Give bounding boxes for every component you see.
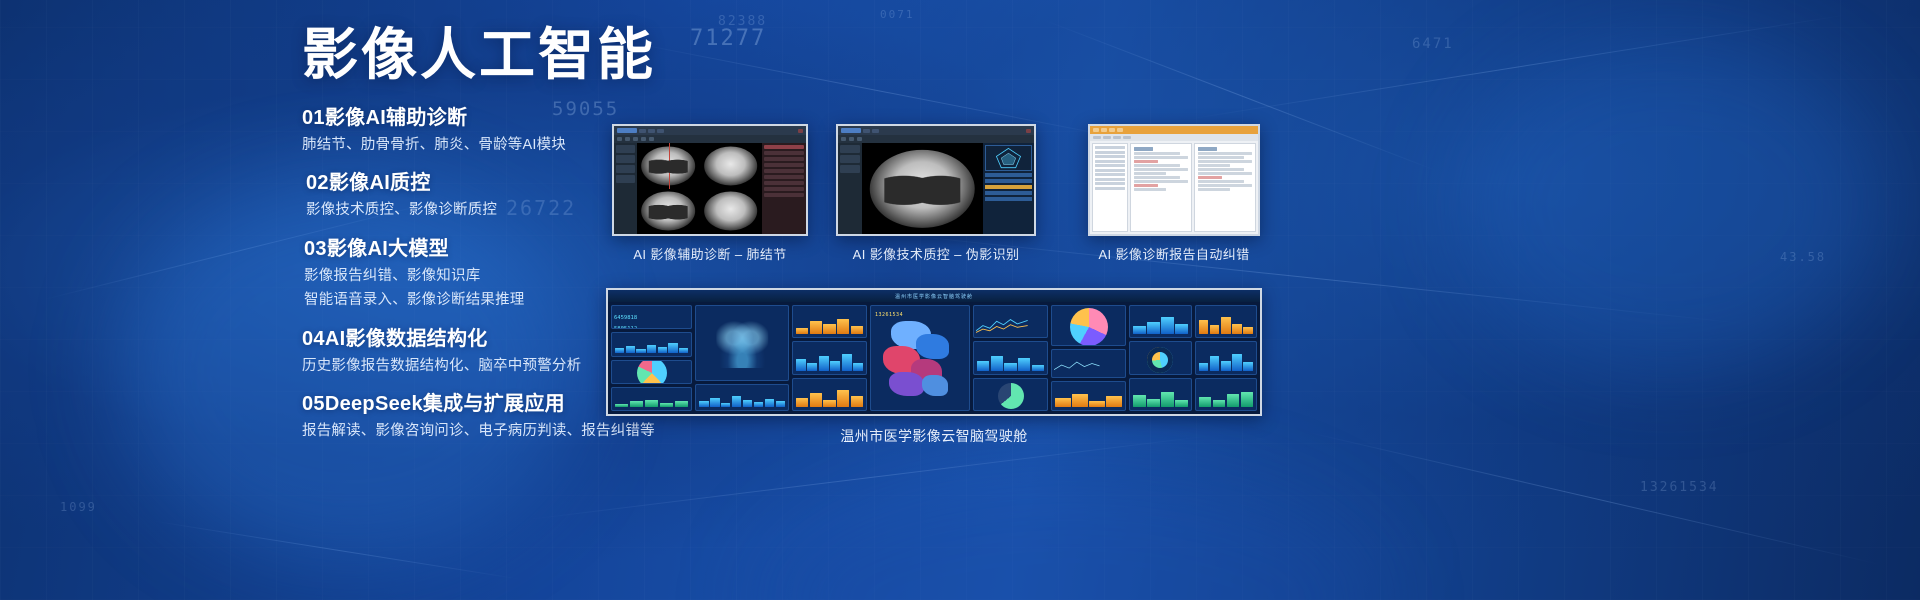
panel-bar-chart[interactable] bbox=[1129, 378, 1192, 411]
worklist-row[interactable] bbox=[1095, 173, 1125, 176]
worklist-row[interactable] bbox=[1095, 155, 1125, 158]
bar-series bbox=[1199, 388, 1254, 407]
worklist-row[interactable] bbox=[1095, 146, 1125, 149]
report-line bbox=[1198, 180, 1244, 183]
bar-series bbox=[1133, 388, 1188, 407]
toolbar-icon[interactable] bbox=[641, 137, 646, 141]
report-line bbox=[1134, 152, 1180, 155]
toolbar-icon[interactable] bbox=[649, 137, 654, 141]
bar-series bbox=[977, 351, 1044, 370]
app-screenshot[interactable] bbox=[836, 124, 1036, 236]
panel-title bbox=[614, 307, 615, 312]
panel-bar-chart[interactable] bbox=[1195, 341, 1258, 374]
panel-bar-chart[interactable] bbox=[1195, 305, 1258, 338]
report-line bbox=[1198, 164, 1230, 167]
kpi-value: 5805112 bbox=[614, 326, 637, 329]
worklist-row[interactable] bbox=[1095, 187, 1125, 190]
panel-line-chart[interactable] bbox=[973, 305, 1048, 338]
bar-series bbox=[615, 397, 688, 407]
dashboard-column-2 bbox=[695, 305, 789, 411]
pie-chart bbox=[1070, 308, 1108, 345]
dashboard-screenshot[interactable]: 温州市医学影像云智脑驾驶舱 6459818 5805112 bbox=[606, 288, 1262, 416]
dashboard-column-5 bbox=[973, 305, 1048, 411]
panel-donut-chart[interactable] bbox=[1129, 341, 1192, 374]
report-error-highlight bbox=[1134, 184, 1158, 187]
dashboard-column-3 bbox=[792, 305, 867, 411]
report-line bbox=[1134, 188, 1166, 191]
toolbar-icon[interactable] bbox=[857, 137, 862, 141]
feature-subtitle: 影像报告纠错、影像知识库 bbox=[304, 265, 702, 287]
ct-slice-coronal[interactable] bbox=[699, 143, 761, 189]
bar-series bbox=[796, 388, 863, 407]
toolbar-icon[interactable] bbox=[617, 137, 622, 141]
image-viewport[interactable] bbox=[637, 143, 762, 234]
screenshot-caption: AI 影像辅助诊断 – 肺结节 bbox=[612, 244, 808, 263]
qc-row[interactable] bbox=[985, 179, 1032, 183]
report-error-highlight bbox=[1134, 160, 1158, 163]
worklist-row[interactable] bbox=[1095, 151, 1125, 154]
tab-chip[interactable] bbox=[648, 129, 655, 133]
human-body-hologram bbox=[716, 316, 767, 368]
thumbnail-strip[interactable] bbox=[614, 143, 637, 234]
qc-row[interactable] bbox=[985, 191, 1032, 195]
ct-slice-axial[interactable] bbox=[637, 143, 699, 189]
toolbar-icon[interactable] bbox=[633, 137, 638, 141]
close-icon[interactable] bbox=[798, 129, 803, 133]
dashboard-column-8 bbox=[1195, 305, 1258, 411]
bar-series bbox=[796, 351, 863, 370]
background-number: 1099 bbox=[60, 500, 97, 514]
bar-series bbox=[1133, 315, 1188, 334]
report-heading bbox=[1134, 147, 1153, 151]
background-number: 0071 bbox=[880, 8, 915, 21]
panel-stat-cards[interactable]: 6459818 5805112 bbox=[611, 305, 692, 329]
panel-bar-chart[interactable] bbox=[973, 341, 1048, 374]
panel-bar-chart[interactable] bbox=[792, 378, 867, 411]
report-line bbox=[1134, 180, 1188, 183]
report-line bbox=[1134, 164, 1180, 167]
report-error-highlight bbox=[1198, 176, 1222, 179]
ct-slice-large[interactable] bbox=[862, 143, 984, 234]
tab-chip[interactable] bbox=[863, 129, 870, 133]
toolbar-icon[interactable] bbox=[841, 137, 846, 141]
qc-polygon-chart bbox=[985, 145, 1032, 171]
worklist-row[interactable] bbox=[1095, 169, 1125, 172]
toolbar-icon[interactable] bbox=[1113, 136, 1121, 139]
screenshot-card-dashboard[interactable]: 温州市医学影像云智脑驾驶舱 6459818 5805112 bbox=[606, 288, 1262, 446]
screenshot-card-ct-qc[interactable]: AI 影像技术质控 – 伪影识别 bbox=[836, 124, 1036, 263]
worklist-row[interactable] bbox=[1095, 164, 1125, 167]
thumbnail[interactable] bbox=[840, 165, 860, 173]
finding-row[interactable] bbox=[764, 181, 804, 185]
report-line bbox=[1134, 176, 1180, 179]
line-chart bbox=[976, 317, 1028, 334]
screenshot-card-ct-viewer[interactable]: AI 影像辅助诊断 – 肺结节 bbox=[612, 124, 808, 263]
app-toolbar bbox=[614, 135, 806, 143]
region-map[interactable] bbox=[874, 314, 966, 407]
bar-series bbox=[1055, 391, 1122, 407]
ct-slice-sagittal[interactable] bbox=[699, 189, 761, 235]
app-titlebar bbox=[614, 126, 806, 135]
bar-series bbox=[699, 394, 785, 407]
report-line bbox=[1134, 156, 1188, 159]
thumbnail[interactable] bbox=[616, 165, 635, 173]
panel-bar-chart[interactable] bbox=[695, 384, 789, 411]
close-icon[interactable] bbox=[1026, 129, 1031, 133]
worklist-row[interactable] bbox=[1095, 160, 1125, 163]
bar-series bbox=[1199, 315, 1254, 334]
dashboard-header: 温州市医学影像云智脑驾驶舱 bbox=[608, 290, 1260, 302]
screenshot-card-report-editor[interactable]: AI 影像诊断报告自动纠错 bbox=[1088, 124, 1260, 263]
crosshair-vertical bbox=[669, 143, 670, 189]
bar-series bbox=[1199, 351, 1254, 370]
toolbar-icon[interactable] bbox=[625, 137, 630, 141]
dashboard-caption: 温州市医学影像云智脑驾驶舱 bbox=[606, 426, 1262, 446]
finding-row[interactable] bbox=[764, 163, 804, 167]
toolbar-icon[interactable] bbox=[849, 137, 854, 141]
background-number: 13261534 bbox=[1640, 480, 1719, 495]
panel-pie-chart[interactable] bbox=[1051, 305, 1126, 346]
panel-bar-chart[interactable] bbox=[1051, 381, 1126, 411]
donut-chart bbox=[1147, 347, 1173, 373]
worklist-panel[interactable] bbox=[1092, 143, 1128, 232]
report-line bbox=[1134, 172, 1166, 175]
ai-findings-panel[interactable] bbox=[762, 143, 806, 234]
finding-row[interactable] bbox=[764, 193, 804, 197]
tab-chip[interactable] bbox=[657, 129, 664, 133]
qc-row-warning[interactable] bbox=[985, 185, 1032, 189]
worklist-row[interactable] bbox=[1095, 182, 1125, 185]
report-heading bbox=[1198, 147, 1217, 151]
thumbnail-strip[interactable] bbox=[838, 143, 862, 234]
report-line bbox=[1198, 160, 1252, 163]
app-logo-icon bbox=[841, 128, 861, 133]
report-document-left[interactable] bbox=[1130, 143, 1192, 232]
dashboard-column-7 bbox=[1129, 305, 1192, 411]
report-line bbox=[1198, 168, 1244, 171]
report-line bbox=[1198, 156, 1244, 159]
panel-pie-chart[interactable] bbox=[611, 360, 692, 384]
report-line bbox=[1198, 184, 1252, 187]
panel-bar-chart[interactable] bbox=[792, 305, 867, 338]
background-number: 6471 bbox=[1412, 36, 1454, 52]
dashboard-header-title: 温州市医学影像云智脑驾驶舱 bbox=[895, 293, 973, 300]
screenshot-caption: AI 影像诊断报告自动纠错 bbox=[1088, 244, 1260, 263]
ct-slice-axial-2[interactable] bbox=[637, 189, 699, 235]
tab-chip[interactable] bbox=[639, 129, 646, 133]
panel-human-body-visual[interactable] bbox=[695, 305, 789, 381]
app-titlebar bbox=[1090, 126, 1258, 134]
finding-row[interactable] bbox=[764, 169, 804, 173]
menu-icon[interactable] bbox=[1101, 128, 1107, 132]
qc-row[interactable] bbox=[985, 197, 1032, 201]
dashboard-column-1: 6459818 5805112 bbox=[611, 305, 692, 411]
panel-line-chart[interactable] bbox=[1051, 349, 1126, 379]
finding-row[interactable] bbox=[764, 151, 804, 155]
thumbnail[interactable] bbox=[616, 145, 635, 153]
panel-bar-chart[interactable] bbox=[611, 332, 692, 356]
background-number: 43.58 bbox=[1780, 250, 1826, 264]
qc-panel[interactable] bbox=[983, 143, 1034, 234]
finding-row[interactable] bbox=[764, 157, 804, 161]
panel-bar-chart[interactable] bbox=[792, 341, 867, 374]
dashboard-column-map: 13261534 bbox=[870, 305, 970, 411]
image-viewport[interactable] bbox=[862, 143, 984, 234]
menu-icon[interactable] bbox=[1109, 128, 1115, 132]
report-document-right[interactable] bbox=[1194, 143, 1256, 232]
screenshot-caption: AI 影像技术质控 – 伪影识别 bbox=[836, 244, 1036, 263]
bar-series bbox=[796, 315, 863, 334]
thumbnail[interactable] bbox=[616, 155, 635, 163]
panel-list[interactable] bbox=[611, 387, 692, 411]
app-screenshot[interactable] bbox=[612, 124, 808, 236]
app-toolbar bbox=[838, 135, 1034, 143]
qc-row[interactable] bbox=[985, 173, 1032, 177]
app-screenshot[interactable] bbox=[1088, 124, 1260, 236]
panel-bar-chart[interactable] bbox=[1129, 305, 1192, 338]
finding-row[interactable] bbox=[764, 175, 804, 179]
menu-icon[interactable] bbox=[1117, 128, 1123, 132]
app-titlebar bbox=[838, 126, 1034, 135]
dashboard-column-6 bbox=[1051, 305, 1126, 411]
report-line bbox=[1134, 168, 1188, 171]
toolbar-icon[interactable] bbox=[1103, 136, 1111, 139]
toolbar-icon[interactable] bbox=[1093, 136, 1101, 139]
report-line bbox=[1198, 152, 1252, 155]
panel-region-map[interactable]: 13261534 bbox=[870, 305, 970, 411]
gauge-chart bbox=[998, 383, 1024, 409]
thumbnail[interactable] bbox=[616, 175, 635, 183]
app-logo-icon bbox=[617, 128, 637, 133]
menu-icon[interactable] bbox=[1093, 128, 1099, 132]
report-line bbox=[1198, 188, 1230, 191]
bar-series bbox=[615, 342, 688, 352]
kpi-value: 6459818 bbox=[614, 315, 637, 321]
pie-chart bbox=[637, 360, 667, 384]
finding-row[interactable] bbox=[764, 187, 804, 191]
worklist-row[interactable] bbox=[1095, 178, 1125, 181]
panel-gauge[interactable] bbox=[973, 378, 1048, 411]
tab-chip[interactable] bbox=[872, 129, 879, 133]
toolbar-icon[interactable] bbox=[1123, 136, 1131, 139]
page-title: 影像人工智能 bbox=[302, 24, 702, 87]
thumbnail[interactable] bbox=[840, 155, 860, 163]
report-line bbox=[1198, 172, 1252, 175]
thumbnail[interactable] bbox=[840, 145, 860, 153]
findings-header bbox=[764, 145, 804, 149]
panel-bar-chart[interactable] bbox=[1195, 378, 1258, 411]
app-toolbar bbox=[1090, 134, 1258, 141]
line-chart bbox=[1054, 359, 1100, 374]
background-glow-right bbox=[1460, 40, 1880, 370]
